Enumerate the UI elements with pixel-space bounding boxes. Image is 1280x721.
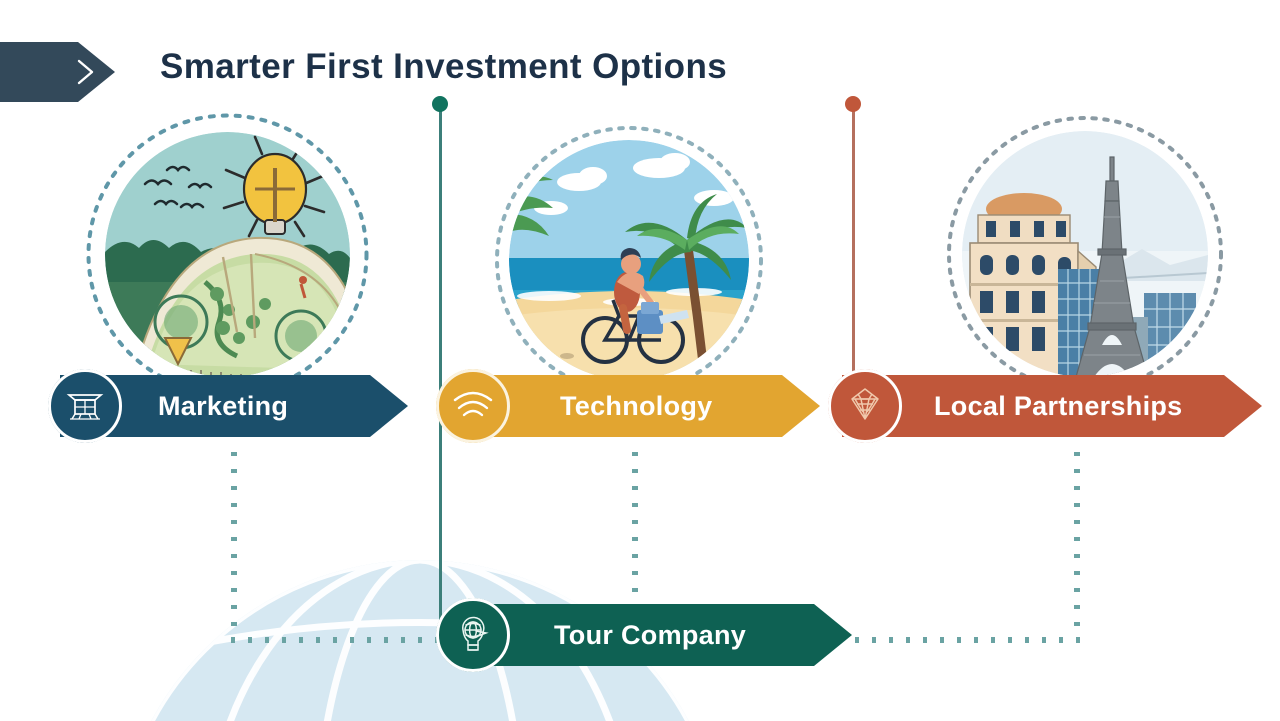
infographic-canvas: Smarter First Investment Options [0, 0, 1280, 721]
badge-tour-company[interactable] [436, 598, 510, 672]
dotted-connector-marketing-horizontal [231, 630, 443, 636]
dotted-connector-local-partnerships-horizontal [855, 630, 1080, 636]
image-technology [509, 140, 749, 380]
badge-marketing[interactable] [48, 369, 122, 443]
header-arrow-banner [0, 42, 115, 102]
banner-local-partnerships[interactable]: Local Partnerships [842, 375, 1262, 437]
banner-tour-company[interactable]: Tour Company [462, 604, 852, 666]
banner-label-local-partnerships: Local Partnerships [934, 391, 1182, 422]
badge-ring-technology [436, 369, 510, 443]
stem-line-technology [439, 104, 442, 624]
dotted-connector-marketing-vertical [231, 452, 237, 634]
badge-ring-marketing [48, 369, 122, 443]
stem-line-local-partnerships [852, 104, 855, 382]
image-marketing [105, 132, 350, 377]
image-local-partnerships [962, 131, 1208, 377]
banner-label-technology: Technology [560, 391, 713, 422]
banner-label-marketing: Marketing [158, 391, 288, 422]
banner-label-tour-company: Tour Company [554, 620, 746, 651]
page-title: Smarter First Investment Options [160, 47, 727, 87]
badge-ring-tour-company [436, 598, 510, 672]
stem-dot-local-partnerships [845, 96, 861, 112]
badge-ring-local-partnerships [828, 369, 902, 443]
badge-local-partnerships[interactable] [828, 369, 902, 443]
chevron-right-icon [75, 57, 97, 87]
badge-technology[interactable] [436, 369, 510, 443]
banner-technology[interactable]: Technology [462, 375, 820, 437]
stem-dot-technology [432, 96, 448, 112]
dotted-connector-local-partnerships-vertical [1074, 452, 1080, 634]
